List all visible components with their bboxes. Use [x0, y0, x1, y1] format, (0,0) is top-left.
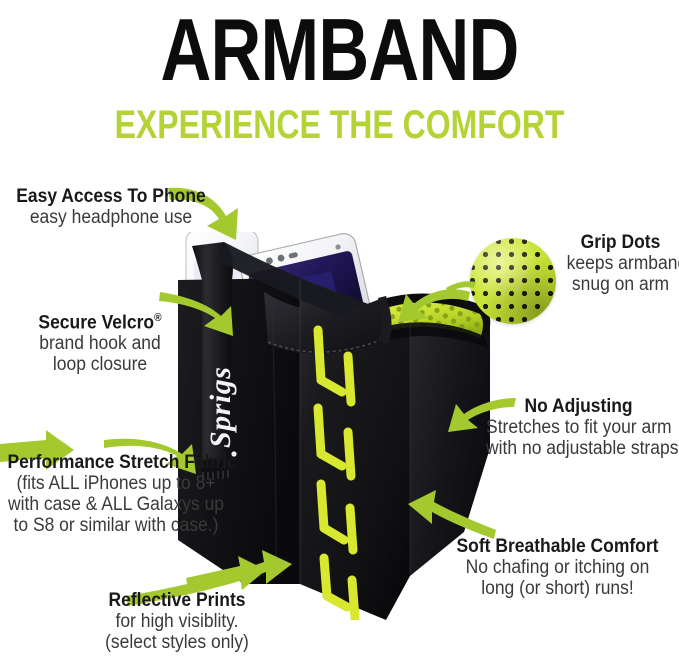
callout-line: (select styles only): [71, 632, 283, 653]
callout-line: long (or short) runs!: [446, 578, 670, 599]
callout-title: Grip Dots: [567, 232, 675, 253]
callout-line: with no adjustable straps: [486, 438, 671, 459]
callout-reflective-prints: Reflective Prints for high visiblity. (s…: [62, 590, 292, 653]
arrow-soft-comfort: [408, 490, 496, 539]
callout-title: Reflective Prints: [71, 590, 283, 611]
callout-title: No Adjusting: [486, 396, 671, 417]
callout-easy-access-to-phone: Easy Access To Phone easy headphone use: [0, 186, 222, 228]
callout-title: Easy Access To Phone: [9, 186, 213, 207]
arrow-grip-dots: [398, 289, 470, 322]
callout-soft-breathable-comfort: Soft Breathable Comfort No chafing or it…: [436, 536, 679, 599]
callout-line: loop closure: [8, 354, 192, 375]
callout-line: with case & ALL Galaxys up: [7, 494, 224, 515]
callout-line: snug on arm: [567, 274, 675, 295]
callout-line: for high visiblity.: [71, 611, 283, 632]
callout-line: brand hook and: [8, 333, 192, 354]
callout-line: keeps armband: [567, 253, 675, 274]
callout-line: easy headphone use: [9, 207, 213, 228]
callout-no-adjusting: No Adjusting Stretches to fit your arm w…: [478, 396, 679, 459]
callout-line: to S8 or similar with case.): [7, 515, 224, 536]
callout-title-text: Secure Velcro: [38, 312, 154, 333]
callout-title: Soft Breathable Comfort: [446, 536, 670, 557]
callout-performance-stretch-fabric: Performance Stretch Fabric (fits ALL iPh…: [0, 452, 234, 536]
callout-line: (fits ALL iPhones up to 8+: [7, 473, 224, 494]
callout-title: Performance Stretch Fabric: [7, 452, 224, 473]
callout-secure-velcro: Secure Velcro® brand hook and loop closu…: [0, 308, 200, 375]
callout-title: Secure Velcro®: [8, 308, 192, 333]
infographic-canvas: ARMBAND EXPERIENCE THE COMFORT: [0, 0, 679, 664]
callout-line: Stretches to fit your arm: [486, 417, 671, 438]
registered-trademark-icon: ®: [154, 312, 161, 324]
callout-grip-dots: Grip Dots keeps armband snug on arm: [562, 232, 679, 295]
callout-line: No chafing or itching on: [446, 557, 670, 578]
